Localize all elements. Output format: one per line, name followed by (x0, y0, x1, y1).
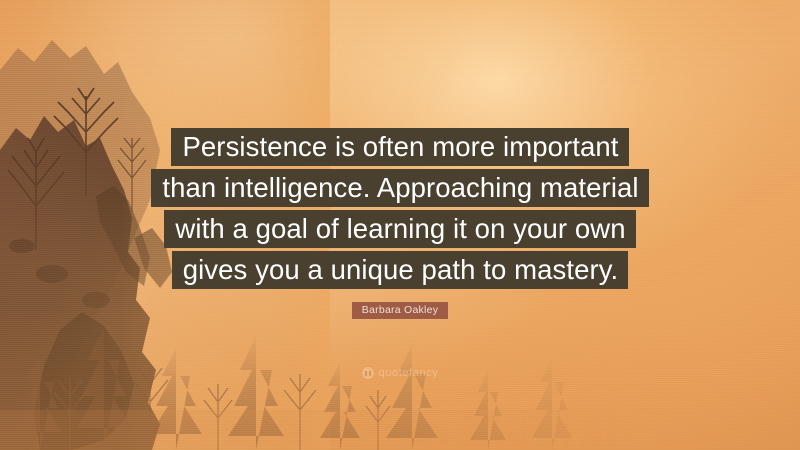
quote-line-4: gives you a unique path to mastery. (172, 251, 629, 289)
quote-line-2: than intelligence. Approaching material (151, 169, 648, 207)
quote-line-row: with a goal of learning it on your own (0, 210, 800, 248)
author-name-badge: Barbara Oakley (352, 302, 448, 319)
quote-line-3: with a goal of learning it on your own (164, 210, 635, 248)
watermark-inner: quotefancy (362, 367, 439, 379)
quote-wallpaper: Persistence is often more important than… (0, 0, 800, 450)
watermark-brand-label: quotefancy (379, 367, 439, 379)
quote-text-block: Persistence is often more important than… (0, 128, 800, 292)
quote-line-1: Persistence is often more important (171, 128, 628, 166)
quote-line-row: Persistence is often more important (0, 128, 800, 166)
quote-line-row: than intelligence. Approaching material (0, 169, 800, 207)
watermark: quotefancy (0, 366, 800, 384)
quotefancy-logo-icon (362, 367, 374, 379)
quote-line-row: gives you a unique path to mastery. (0, 251, 800, 289)
author-attribution: Barbara Oakley (0, 300, 800, 319)
